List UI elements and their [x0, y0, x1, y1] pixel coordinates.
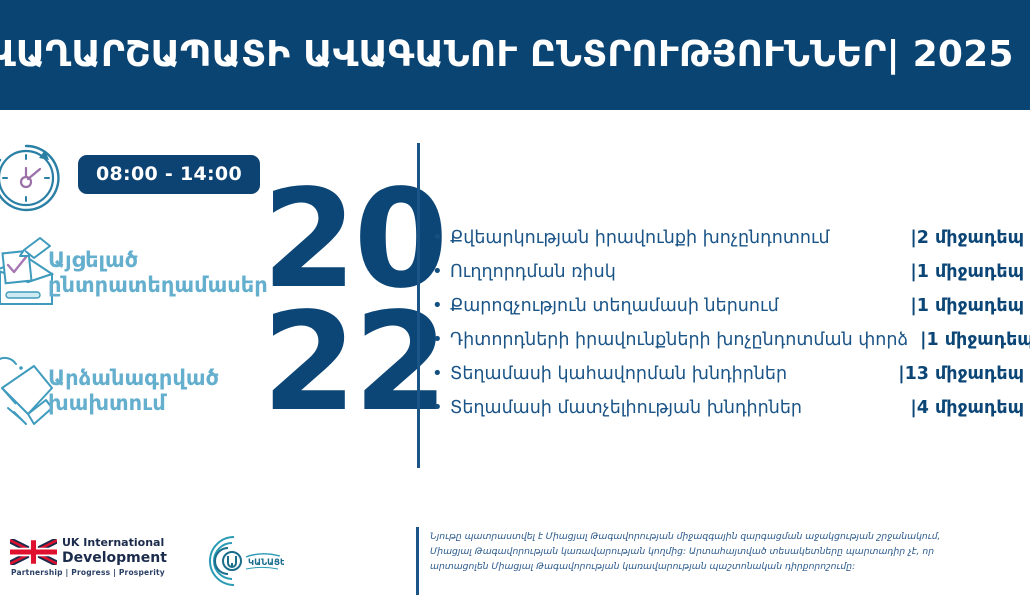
clock-icon — [0, 138, 68, 214]
list-item-label: Դիտորդների իրավունքների խոչընդոտման փորձ — [450, 330, 908, 350]
bullet-icon: • — [432, 365, 450, 383]
page-title: ՎԱՂԱՐՇԱՊԱՏԻ ԱՎԱԳԱՆՈՒ ԸՆՏՐՈՒԹՅՈՒՆՆԵՐ| 202… — [0, 36, 1030, 74]
footer: UK International Development Partnership… — [0, 520, 1030, 600]
uk-logo-text: UK International Development — [62, 537, 167, 566]
vertical-divider — [417, 143, 420, 468]
list-item-label: Ուղղորդման ռիսկ — [450, 262, 898, 282]
uk-international-development-logo: UK International Development Partnership… — [10, 537, 150, 587]
header-bar: ՎԱՂԱՐՇԱՊԱՏԻ ԱՎԱԳԱՆՈՒ ԸՆՏՐՈՒԹՅՈՒՆՆԵՐ| 202… — [0, 0, 1030, 110]
uk-logo-tagline: Partnership | Progress | Prosperity — [11, 568, 165, 577]
list-item-label: Տեղամասի մատչելիության խնդիրներ — [450, 398, 898, 418]
list-item: • Ուղղորդման ռիսկ |1 միջադեպ — [432, 262, 1024, 282]
list-item-value: |13 միջադեպ — [886, 364, 1024, 384]
bullet-icon: • — [432, 229, 450, 247]
list-item-value: |2 միջադեպ — [898, 228, 1024, 248]
stat-label-visited-precincts: Այցելած ընտրատեղամասեր — [48, 248, 288, 298]
list-item: • Քվեարկության իրավունքի խոչընդոտում |2 … — [432, 228, 1024, 248]
list-item-label: Քվեարկության իրավունքի խոչընդոտում — [450, 228, 898, 248]
kanatsex-logo-icon: ԿԱՆԱՑԵՍ — [198, 533, 284, 589]
list-item-value: |1 միջադեպ — [898, 262, 1024, 282]
list-item-value: |4 միջադեպ — [898, 398, 1024, 418]
incident-list: • Քվեարկության իրավունքի խոչընդոտում |2 … — [432, 228, 1024, 432]
disclaimer-text: Նյութը պատրաստվել է Միացյալ Թագավորությա… — [430, 530, 970, 575]
list-item-label: Տեղամասի կահավորման խնդիրներ — [450, 364, 886, 384]
bullet-icon: • — [432, 331, 450, 349]
left-summary-panel: 08:00 - 14:00 Այցելած ընտրատեղամասեր — [0, 130, 410, 480]
list-item: • Քարոզչություն տեղամասի ներսում |1 միջա… — [432, 296, 1024, 316]
uk-flag-icon — [10, 539, 57, 565]
poster-root: ՎԱՂԱՐՇԱՊԱՏԻ ԱՎԱԳԱՆՈՒ ԸՆՏՐՈՒԹՅՈՒՆՆԵՐ| 202… — [0, 0, 1030, 600]
list-item-value: |1 միջադեպ — [908, 330, 1030, 350]
time-badge: 08:00 - 14:00 — [78, 155, 260, 194]
list-item-label: Քարոզչություն տեղամասի ներսում — [450, 296, 898, 316]
list-item: • Տեղամասի կահավորման խնդիրներ |13 միջադ… — [432, 364, 1024, 384]
list-item-value: |1 միջադեպ — [898, 296, 1024, 316]
stat-label-recorded-violations: Արձանագրված խախտում — [48, 366, 288, 416]
bullet-icon: • — [432, 263, 450, 281]
bullet-icon: • — [432, 297, 450, 315]
bullet-icon: • — [432, 399, 450, 417]
list-item: • Տեղամասի մատչելիության խնդիրներ |4 միջ… — [432, 398, 1024, 418]
svg-text:ԿԱՆԱՑԵՍ: ԿԱՆԱՑԵՍ — [248, 558, 284, 568]
disclaimer-accent-bar — [416, 527, 419, 595]
uk-logo-line1: UK International — [62, 537, 167, 550]
list-item: • Դիտորդների իրավունքների խոչընդոտման փո… — [432, 330, 1024, 350]
uk-logo-line2: Development — [62, 550, 167, 566]
